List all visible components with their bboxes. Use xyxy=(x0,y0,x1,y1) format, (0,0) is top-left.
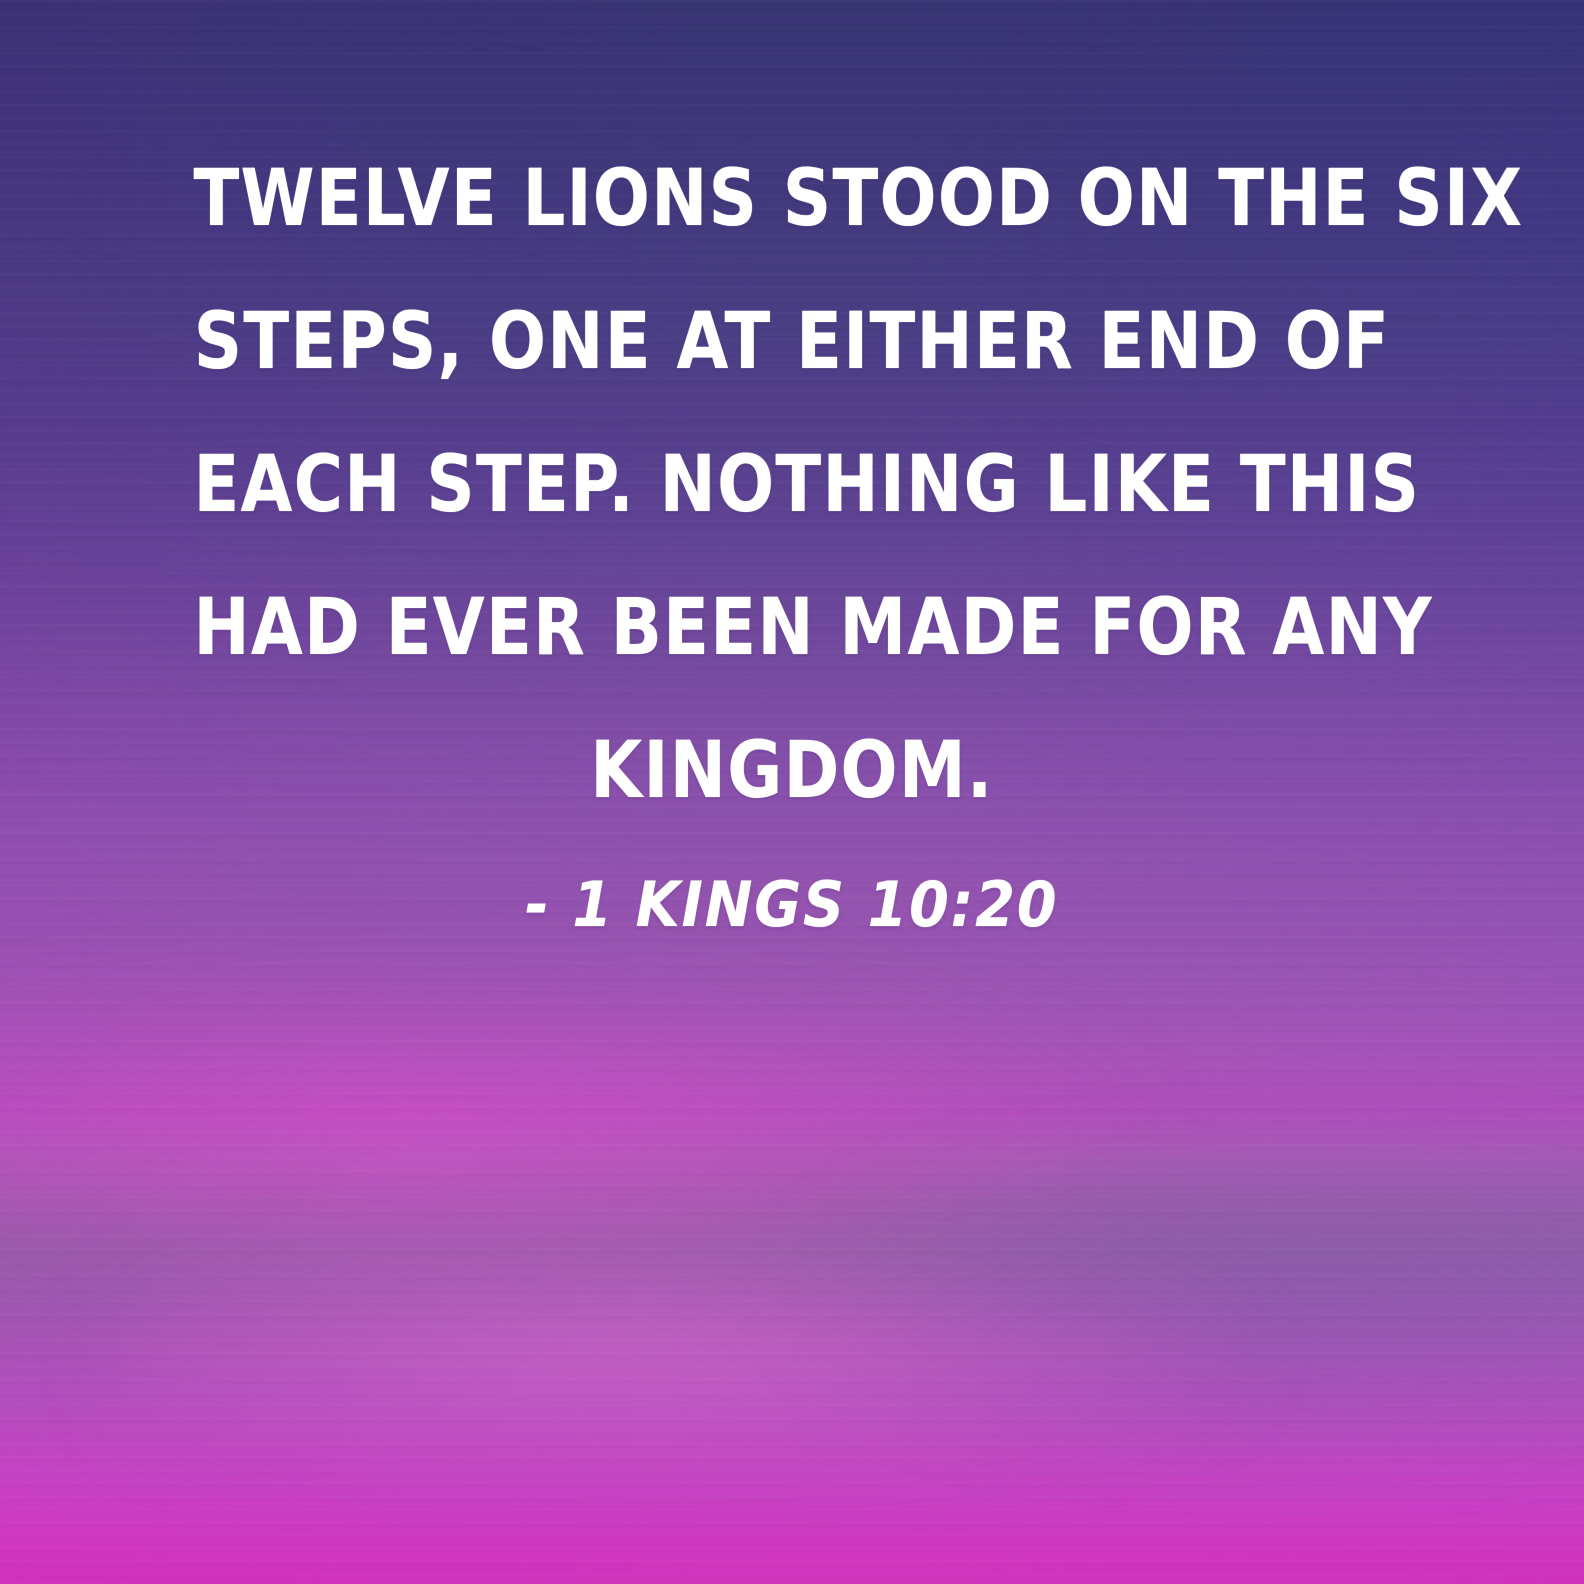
verse-line-4: HAD EVER BEEN MADE FOR ANY xyxy=(193,557,1390,700)
cloud-glow-lower-left xyxy=(127,1251,1236,1457)
verse-text-block: TWELVE LIONS STOOD ON THE SIX STEPS, ONE… xyxy=(0,128,1584,843)
verse-line-2: STEPS, ONE AT EITHER END OF xyxy=(193,271,1390,414)
cloud-glow-right xyxy=(824,1172,1584,1425)
attribution-label: - 1 KINGS 10:20 xyxy=(525,868,1058,941)
verse-line-5: KINGDOM. xyxy=(193,700,1390,843)
verse-line-3: EACH STEP. NOTHING LIKE THIS xyxy=(193,414,1390,557)
bottom-magenta-glow xyxy=(0,1426,1584,1584)
verse-attribution: - 1 KINGS 10:20 xyxy=(0,868,1584,941)
verse-image-canvas: TWELVE LIONS STOOD ON THE SIX STEPS, ONE… xyxy=(0,0,1584,1584)
verse-line-1: TWELVE LIONS STOOD ON THE SIX xyxy=(193,128,1390,271)
cloud-glow-upper-left xyxy=(0,982,1140,1299)
